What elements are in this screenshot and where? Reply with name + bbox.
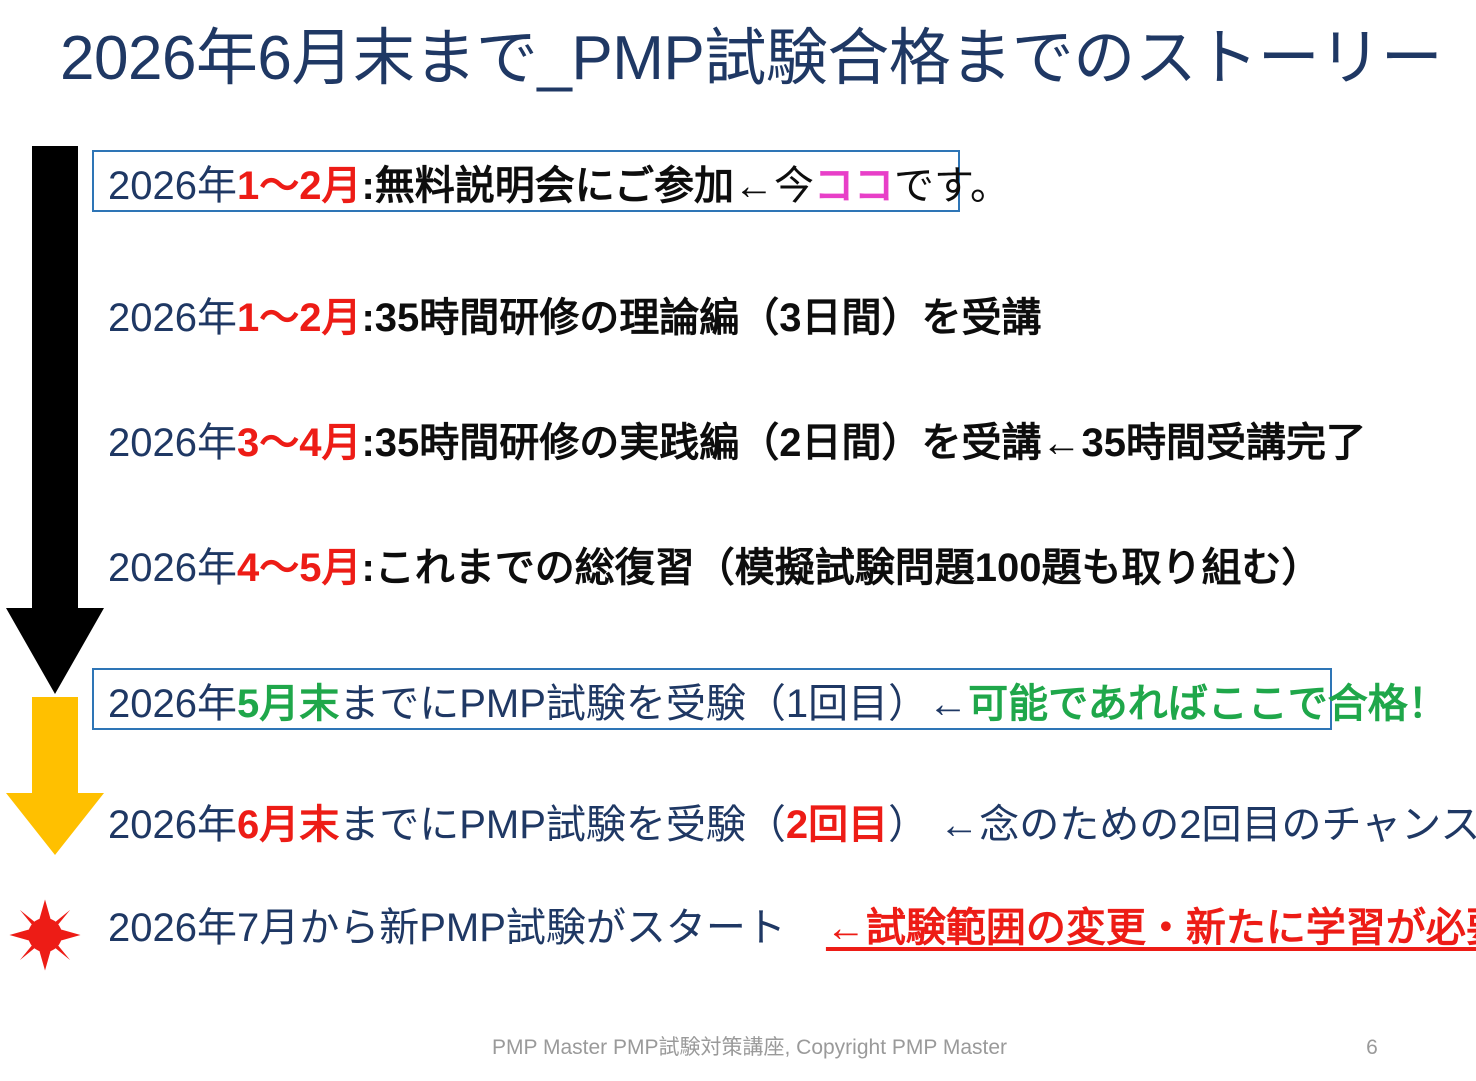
row-6-seg-attempt: 2回目: [786, 803, 888, 847]
arrow-down-black-icon: [6, 146, 104, 694]
row-1-seg-month: 1〜2月: [237, 164, 362, 208]
row-1-seg-tail: です。: [894, 164, 1010, 208]
row-4-seg-year: 2026年: [108, 546, 237, 590]
row-1-seg-year: 2026年: [108, 164, 237, 208]
row-6-seg-body: までにPMP試験を受験（: [339, 803, 786, 847]
page-title: 2026年6月末まで_PMP試験合格までのストーリー: [60, 16, 1440, 102]
row-3-seg-year: 2026年: [108, 421, 237, 465]
row-5-seg-year: 2026年: [108, 682, 237, 726]
row-5-seg-body: までにPMP試験を受験（1回目）←: [339, 682, 968, 726]
row-4-seg-month: 4〜5月: [237, 546, 362, 590]
row-2-seg-month: 1〜2月: [237, 296, 362, 340]
row-3-seg-month: 3〜4月: [237, 421, 362, 465]
slide-canvas: 2026年6月末まで_PMP試験合格までのストーリー: [0, 0, 1476, 1081]
page-number: 6: [1352, 1034, 1392, 1062]
timeline-row-5: 2026年5月末までにPMP試験を受験（1回目）←可能であればここで合格！: [92, 668, 1332, 730]
row-3-seg-body: :35時間研修の実践編（2日間）を受講←35時間受講完了: [361, 421, 1366, 465]
timeline-row-7: 2026年7月から新PMP試験がスタート ←試験範囲の変更・新たに学習が必要: [108, 900, 1476, 956]
row-1-seg-body: :無料説明会にご参加: [361, 164, 734, 208]
arrow-down-orange-icon: [6, 697, 104, 855]
timeline-row-4: 2026年4〜5月:これまでの総復習（模擬試験問題100題も取り組む）: [108, 540, 1322, 596]
row-1-seg-arrow: ←今: [734, 164, 814, 208]
row-6-seg-month: 6月末: [237, 803, 339, 847]
row-5-seg-highlight: 可能であればここで合格！: [968, 682, 1448, 726]
row-2-seg-body: :35時間研修の理論編（3日間）を受講: [361, 296, 1041, 340]
row-7-seg-alert: ←試験範囲の変更・新たに学習が必要: [826, 906, 1476, 950]
row-7-seg-body: 2026年7月から新PMP試験がスタート: [108, 906, 826, 950]
timeline-row-3: 2026年3〜4月:35時間研修の実践編（2日間）を受講←35時間受講完了: [108, 415, 1366, 471]
row-1-seg-here: ココ: [814, 164, 894, 208]
row-5-seg-month: 5月末: [237, 682, 339, 726]
timeline-row-2: 2026年1〜2月:35時間研修の理論編（3日間）を受講: [108, 290, 1042, 346]
row-4-seg-body: :これまでの総復習（模擬試験問題100題も取り組む）: [361, 546, 1321, 590]
row-6-seg-year: 2026年: [108, 803, 237, 847]
row-6-seg-tail: ） ←念のための2回目のチャンス！: [888, 803, 1476, 847]
footer-copyright: PMP Master PMP試験対策講座, Copyright PMP Mast…: [492, 1034, 1007, 1062]
sunburst-star-icon: [8, 898, 82, 972]
timeline-row-1: 2026年1〜2月:無料説明会にご参加←今ココです。: [92, 150, 960, 212]
row-2-seg-year: 2026年: [108, 296, 237, 340]
timeline-row-6: 2026年6月末までにPMP試験を受験（2回目） ←念のための2回目のチャンス！: [108, 797, 1476, 853]
